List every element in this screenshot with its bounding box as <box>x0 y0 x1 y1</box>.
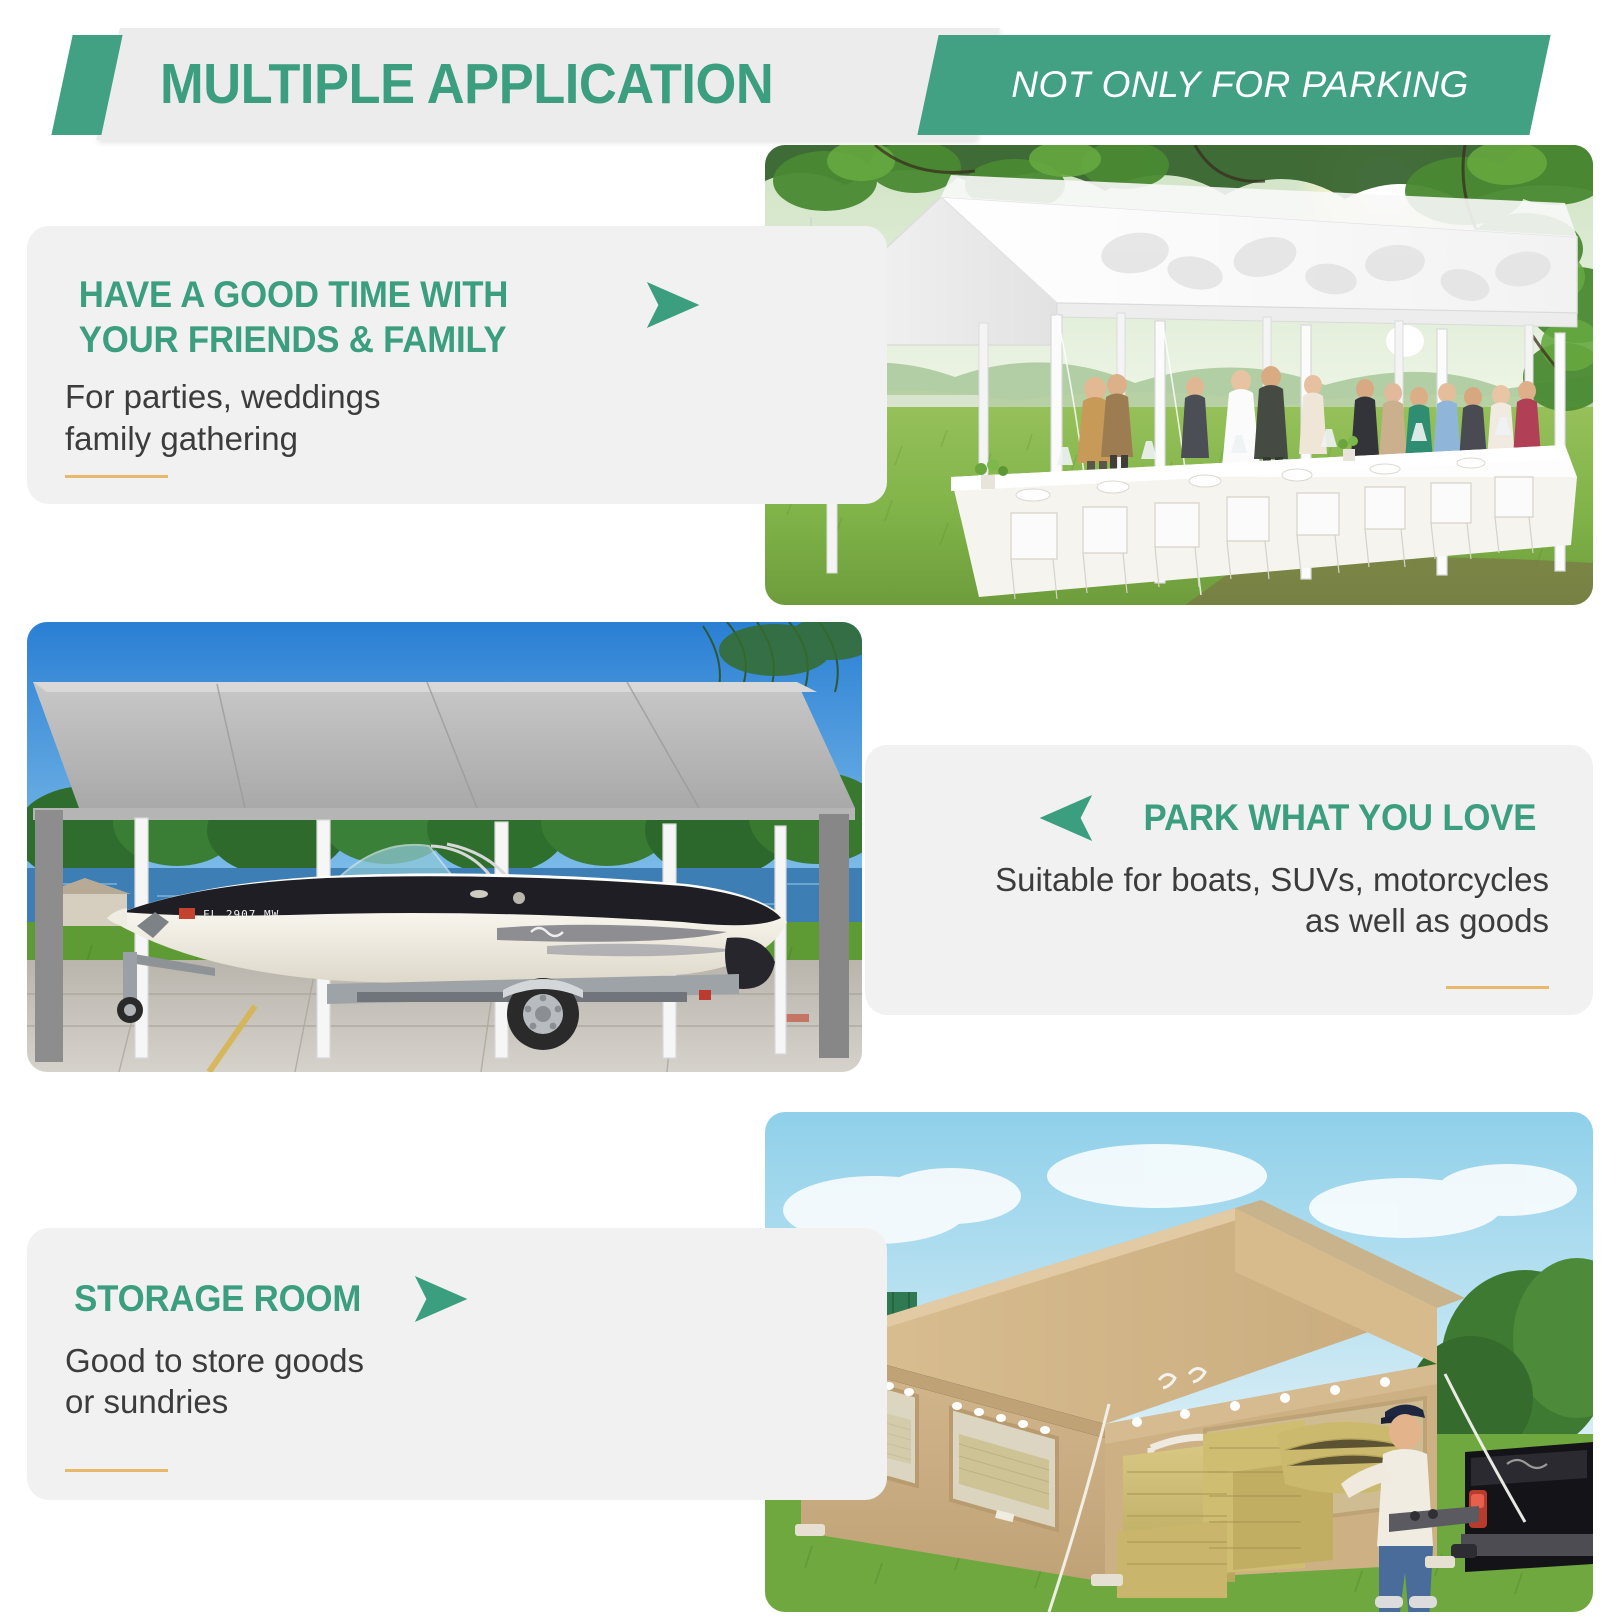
svg-text:FL 2907 MW: FL 2907 MW <box>203 908 279 921</box>
feature-title: PARK WHAT YOU LOVE <box>1144 795 1537 840</box>
feature-title: HAVE A GOOD TIME WITH YOUR FRIENDS & FAM… <box>79 272 509 362</box>
feature-title-row: STORAGE ROOM <box>65 1272 855 1326</box>
feature-card-content: PARK WHAT YOU LOVE Suitable for boats, S… <box>899 791 1549 942</box>
feature-title-row: HAVE A GOOD TIME WITH YOUR FRIENDS & FAM… <box>65 272 855 362</box>
header-banner: MULTIPLE APPLICATION NOT ONLY FOR PARKIN… <box>0 0 1620 150</box>
photo-wedding-party-under-white-canopy <box>765 145 1593 605</box>
feature-card-storage-room: STORAGE ROOM Good to store goods or sund… <box>27 1228 887 1500</box>
arrow-right-icon <box>640 278 701 332</box>
page-subtitle: NOT ONLY FOR PARKING <box>960 38 1520 132</box>
feature-title-row: PARK WHAT YOU LOVE <box>899 791 1549 845</box>
boat-carport-illustration: FL 2907 MW <box>27 622 862 1072</box>
accent-underline <box>65 1469 168 1472</box>
photo-hay-storage-under-beige-carport <box>765 1112 1593 1612</box>
photo-boat-parked-under-gray-carport: FL 2907 MW <box>27 622 862 1072</box>
feature-body: Suitable for boats, SUVs, motorcycles as… <box>899 859 1549 942</box>
wedding-party-illustration <box>765 145 1593 605</box>
feature-body: Good to store goods or sundries <box>65 1340 855 1423</box>
page-title: MULTIPLE APPLICATION <box>160 36 896 132</box>
feature-card-friends-family: HAVE A GOOD TIME WITH YOUR FRIENDS & FAM… <box>27 226 887 504</box>
feature-body: For parties, weddings family gathering <box>65 376 855 459</box>
feature-title: STORAGE ROOM <box>74 1276 361 1321</box>
accent-underline <box>1446 986 1549 989</box>
arrow-left-icon <box>1038 791 1099 845</box>
arrow-right-icon <box>409 1272 470 1326</box>
feature-card-park-what-you-love: PARK WHAT YOU LOVE Suitable for boats, S… <box>865 745 1593 1015</box>
accent-underline <box>65 475 168 478</box>
hay-storage-illustration <box>765 1112 1593 1612</box>
feature-card-content: HAVE A GOOD TIME WITH YOUR FRIENDS & FAM… <box>65 272 855 459</box>
feature-card-content: STORAGE ROOM Good to store goods or sund… <box>65 1272 855 1423</box>
